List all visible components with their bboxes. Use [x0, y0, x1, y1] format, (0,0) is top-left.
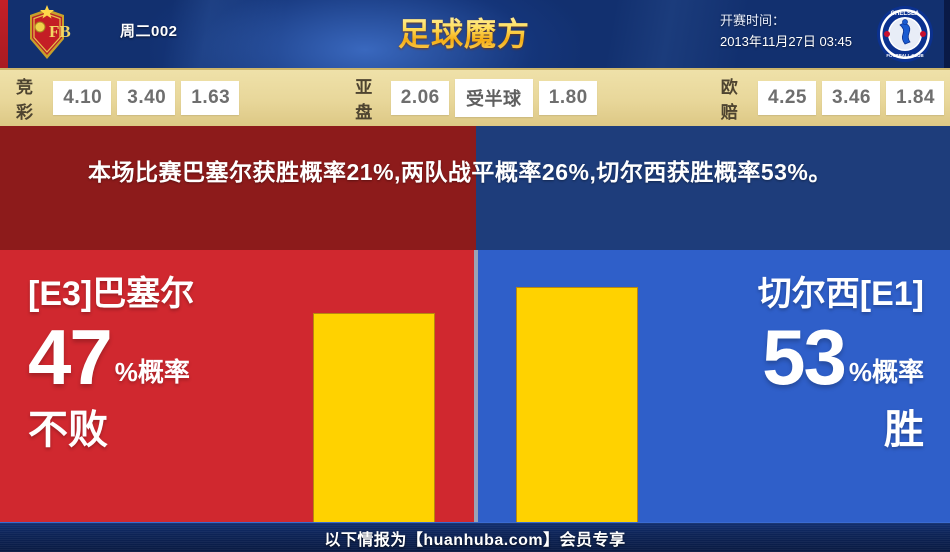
header-left-red-strip — [0, 0, 8, 68]
brand-logo: 足球魔方 — [398, 8, 558, 60]
footer-membership-text: 以下情报为【huanhuba.com】会员专享 — [324, 526, 625, 550]
header-bar: FB 周二002 足球魔方 开赛时间： 2013年11月27日 03:45 — [0, 0, 950, 68]
odds-group-european: 欧赔 4.25 3.46 1.84 — [721, 73, 950, 123]
odds-cell-euro-home[interactable]: 4.25 — [758, 81, 816, 115]
svg-text:FOOTBALL CLUB: FOOTBALL CLUB — [886, 53, 923, 58]
odds-group-jingcai: 竞彩 4.10 3.40 1.63 — [16, 73, 245, 123]
home-probability-bar — [313, 313, 435, 522]
footer-bar: 以下情报为【huanhuba.com】会员专享 — [0, 522, 950, 552]
odds-cell-euro-draw[interactable]: 3.46 — [822, 81, 880, 115]
teams-comparison-panels: [E3]巴塞尔 47 %概率 不败 切尔西[E1] 53 %概率 胜 — [0, 250, 950, 522]
odds-cell-handicap-line[interactable]: 受半球 — [455, 79, 533, 117]
kickoff-time-block: 开赛时间： 2013年11月27日 03:45 — [720, 10, 852, 52]
away-team-stats: 切尔西[E1] 53 %概率 胜 — [758, 272, 924, 456]
match-number: 周二002 — [120, 20, 178, 41]
odds-group-label: 亚盘 — [355, 73, 383, 123]
away-outcome-label: 胜 — [758, 404, 924, 456]
header-right-strip — [944, 0, 950, 68]
away-percent-unit: %概率 — [849, 354, 924, 396]
kickoff-label: 开赛时间： — [720, 10, 852, 31]
chelsea-fc-crest-icon: CHELSEA FOOTBALL CLUB — [876, 5, 934, 63]
kickoff-value: 2013年11月27日 03:45 — [720, 31, 852, 52]
odds-cell-home-win[interactable]: 4.10 — [53, 81, 111, 115]
odds-cell-draw[interactable]: 3.40 — [117, 81, 175, 115]
odds-cell-handicap-home[interactable]: 2.06 — [391, 81, 449, 115]
probability-summary-text: 本场比赛巴塞尔获胜概率21%,两队战平概率26%,切尔西获胜概率53%。 — [88, 152, 888, 192]
probability-banner: 本场比赛巴塞尔获胜概率21%,两队战平概率26%,切尔西获胜概率53%。 — [0, 126, 950, 250]
svg-text:CHELSEA: CHELSEA — [891, 11, 920, 17]
fc-basel-crest-icon: FB — [18, 5, 76, 63]
odds-cell-handicap-away[interactable]: 1.80 — [539, 81, 597, 115]
away-probability-bar — [516, 287, 638, 522]
odds-group-asian-handicap: 亚盘 2.06 受半球 1.80 — [355, 73, 603, 123]
home-outcome-label: 不败 — [28, 404, 194, 456]
home-team-stats: [E3]巴塞尔 47 %概率 不败 — [28, 272, 194, 456]
svg-text:FB: FB — [49, 22, 71, 41]
odds-group-label: 欧赔 — [721, 73, 750, 123]
home-percent-value: 47 — [28, 318, 111, 396]
odds-bar: 竞彩 4.10 3.40 1.63 亚盘 2.06 受半球 1.80 欧赔 4.… — [0, 68, 950, 126]
odds-cell-euro-away[interactable]: 1.84 — [886, 81, 944, 115]
match-preview-graphic: FB 周二002 足球魔方 开赛时间： 2013年11月27日 03:45 — [0, 0, 950, 552]
brand-logo-text: 足球魔方 — [398, 8, 558, 60]
home-percent-row: 47 %概率 — [28, 318, 194, 396]
away-percent-value: 53 — [762, 318, 845, 396]
odds-cell-away-win[interactable]: 1.63 — [181, 81, 239, 115]
home-team-name: [E3]巴塞尔 — [28, 272, 194, 316]
away-team-name: 切尔西[E1] — [758, 272, 924, 316]
home-percent-unit: %概率 — [115, 354, 190, 396]
odds-group-label: 竞彩 — [16, 73, 45, 123]
away-percent-row: 53 %概率 — [758, 318, 924, 396]
